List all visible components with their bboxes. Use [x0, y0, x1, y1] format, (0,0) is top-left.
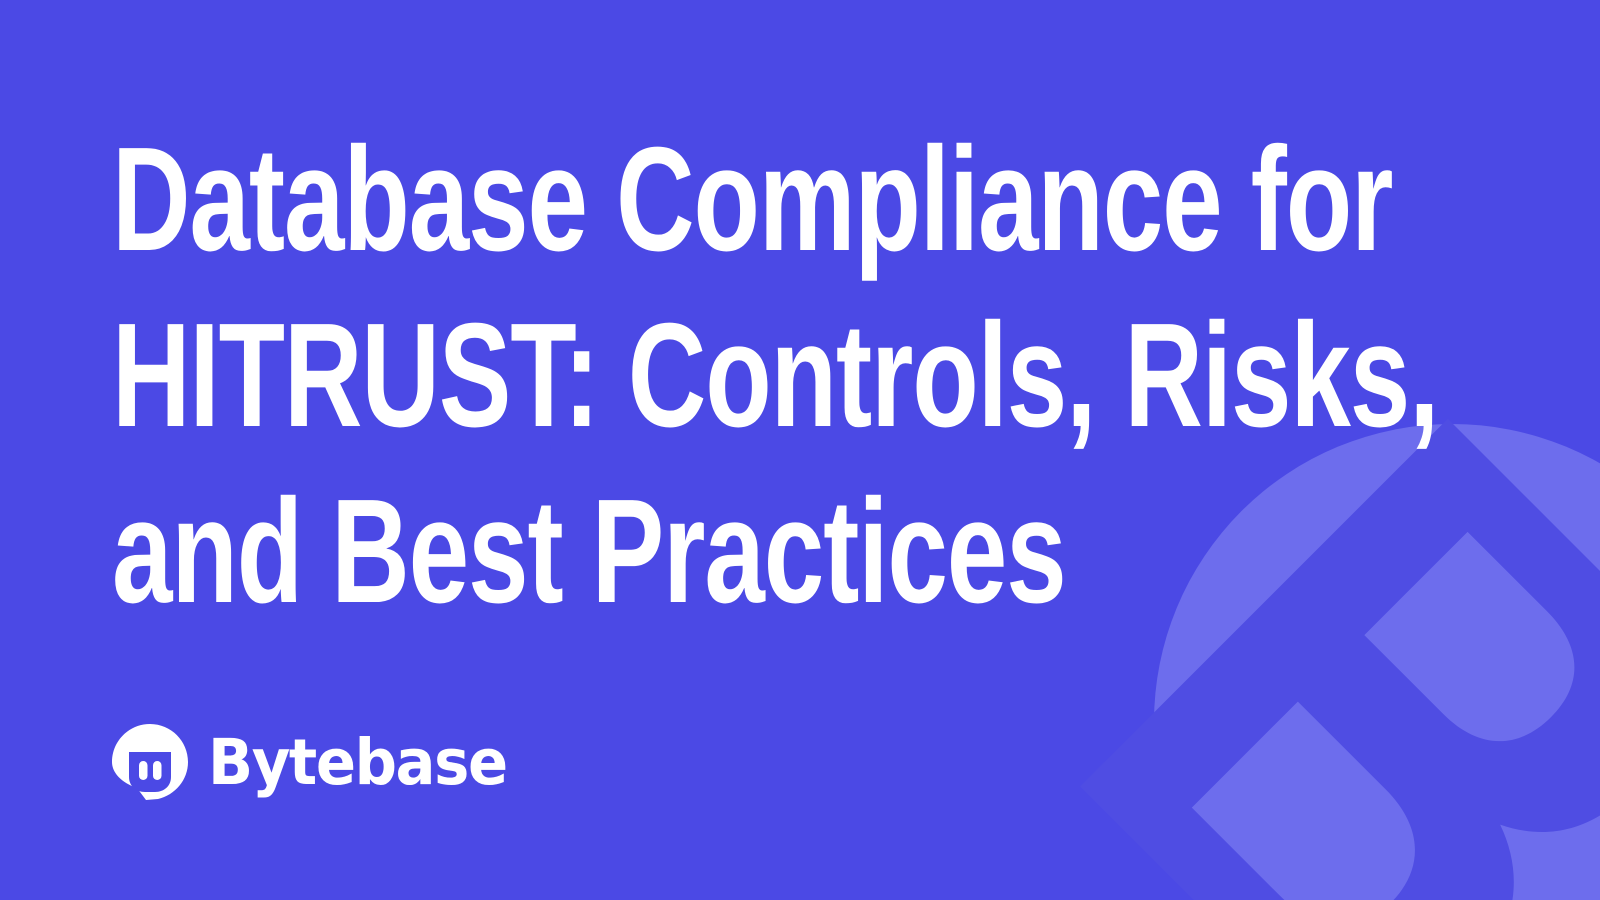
- brand-lockup: Bytebase: [110, 722, 526, 802]
- cover-canvas: Database Compliance for HITRUST: Control…: [0, 0, 1600, 900]
- logo-mark-bar-right: [153, 761, 162, 780]
- logo-mark-bar-left: [139, 761, 148, 780]
- page-title: Database Compliance for HITRUST: Control…: [112, 112, 1512, 640]
- bytebase-wordmark: Bytebase: [208, 731, 507, 794]
- page-title-line-3: and Best Practices: [112, 464, 1141, 640]
- page-title-line-1: Database Compliance for: [112, 112, 1141, 288]
- bytebase-logo-icon: [110, 722, 190, 802]
- watermark-b-counter-lower: [1192, 702, 1445, 900]
- logo-mark-inner-cup: [129, 752, 171, 792]
- page-title-line-2: HITRUST: Controls, Risks,: [112, 288, 1141, 464]
